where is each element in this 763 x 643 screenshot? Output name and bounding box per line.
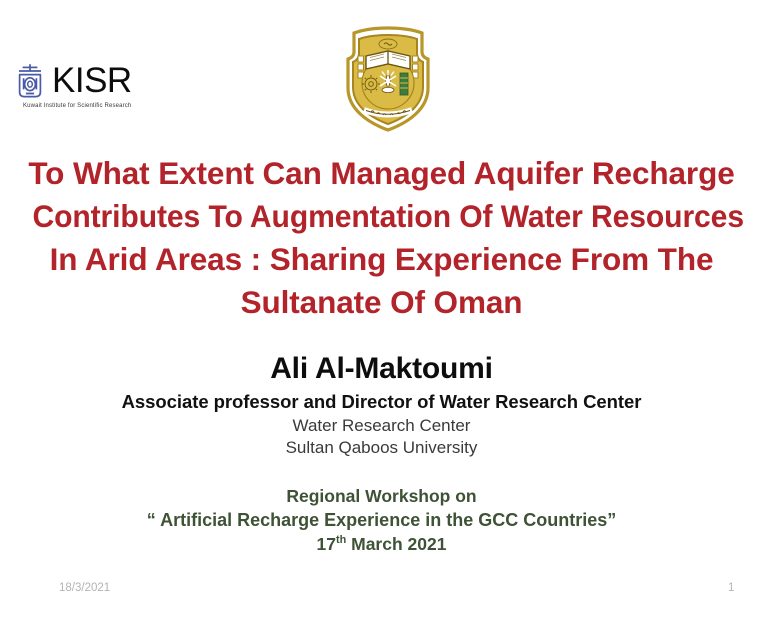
author-affiliation-center: Water Research Center [0, 415, 763, 437]
author-role: Associate professor and Director of Wate… [0, 388, 763, 415]
workshop-date-ordinal: th [336, 534, 346, 546]
presentation-slide: KISR Kuwait Institute for Scientific Res… [0, 0, 763, 643]
workshop-block: Regional Workshop on “ Artificial Rechar… [0, 485, 763, 556]
kisr-logo-row: KISR [13, 62, 132, 99]
author-block: Ali Al-Maktoumi Associate professor and … [0, 350, 763, 459]
sultan-qaboos-university-emblem-icon [344, 26, 432, 132]
footer-page-number: 1 [728, 582, 734, 594]
footer-date: 18/3/2021 [59, 582, 110, 594]
author-name: Ali Al-Maktoumi [0, 350, 763, 388]
title-line-1: To What Extent Can Managed Aquifer Recha… [16, 152, 747, 195]
title-line-4: Sultanate Of Oman [16, 281, 747, 324]
title-line-2: Contributes To Augmentation Of Water Res… [32, 195, 730, 238]
workshop-date: 17th March 2021 [0, 532, 763, 556]
kisr-emblem-icon [13, 62, 47, 99]
workshop-heading: Regional Workshop on [0, 485, 763, 508]
kisr-wordmark: KISR [52, 63, 132, 98]
workshop-date-number: 17 [317, 534, 336, 554]
kisr-tagline: Kuwait Institute for Scientific Research [23, 103, 131, 109]
workshop-subject: “ Artificial Recharge Experience in the … [0, 508, 763, 532]
kisr-logo: KISR Kuwait Institute for Scientific Res… [13, 62, 132, 109]
author-affiliation-university: Sultan Qaboos University [0, 437, 763, 459]
page-title: To What Extent Can Managed Aquifer Recha… [16, 152, 747, 324]
title-line-3: In Arid Areas : Sharing Experience From … [16, 238, 747, 281]
workshop-date-rest: March 2021 [346, 534, 446, 554]
